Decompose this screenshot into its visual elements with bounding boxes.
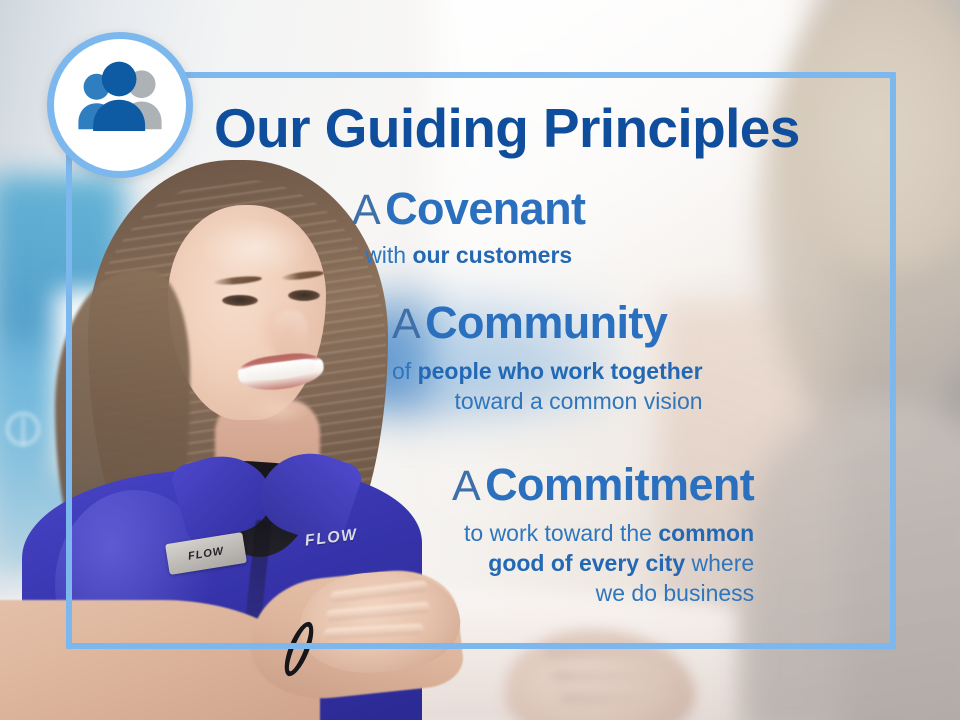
subtext-line: of people who work together bbox=[392, 357, 703, 387]
blurred-foreground-finger bbox=[552, 672, 677, 681]
subject-eye-left bbox=[222, 295, 258, 306]
subject-eye-right bbox=[288, 290, 320, 301]
subtext-bold: common bbox=[658, 520, 754, 546]
promo-graphic: FLOW FLOW bbox=[0, 0, 960, 720]
principle-community-heading: A Community bbox=[392, 300, 703, 347]
group-badge bbox=[47, 32, 193, 178]
principle-commitment-heading: A Commitment bbox=[452, 462, 754, 509]
subject-forehead-highlight bbox=[200, 218, 310, 278]
subtext-line: toward a common vision bbox=[392, 387, 703, 417]
page-title: Our Guiding Principles bbox=[214, 96, 800, 160]
blurred-foreground-finger bbox=[560, 694, 675, 703]
subtext-bold: good of every city bbox=[488, 550, 685, 576]
subject-chin bbox=[243, 392, 313, 426]
principle-covenant: A Covenant with our customers bbox=[352, 186, 585, 271]
principle-covenant-heading: A Covenant bbox=[352, 186, 585, 233]
principle-community-subtext: of people who work together toward a com… bbox=[392, 357, 703, 417]
blurred-foreground-finger bbox=[545, 648, 675, 657]
principle-commitment-subtext: to work toward the common good of every … bbox=[452, 519, 754, 609]
group-people-icon bbox=[68, 53, 172, 157]
principle-commitment: A Commitment to work toward the common g… bbox=[452, 462, 754, 609]
name-badge-logo-text: FLOW bbox=[187, 545, 225, 563]
blurred-customer-shoulder bbox=[745, 400, 960, 720]
principle-article: A bbox=[452, 462, 481, 510]
subtext-plain: where bbox=[685, 550, 754, 576]
principle-community: A Community of people who work together … bbox=[392, 300, 703, 417]
principle-keyword: Commitment bbox=[485, 459, 754, 510]
subtext-plain: of bbox=[392, 358, 418, 384]
subtext-bold: people who work together bbox=[418, 358, 703, 384]
subtext-plain: to work toward the bbox=[464, 520, 658, 546]
subtext-plain: with bbox=[365, 242, 412, 268]
principle-article: A bbox=[392, 300, 421, 348]
principle-keyword: Covenant bbox=[385, 183, 585, 234]
subtext-line: we do business bbox=[452, 579, 754, 609]
subtext-line: to work toward the common bbox=[452, 519, 754, 549]
principle-covenant-subtext: with our customers bbox=[352, 241, 585, 271]
principle-article: A bbox=[352, 186, 381, 234]
subtext-bold: our customers bbox=[412, 242, 572, 268]
subtext-line: good of every city where bbox=[452, 549, 754, 579]
principle-keyword: Community bbox=[425, 297, 667, 348]
